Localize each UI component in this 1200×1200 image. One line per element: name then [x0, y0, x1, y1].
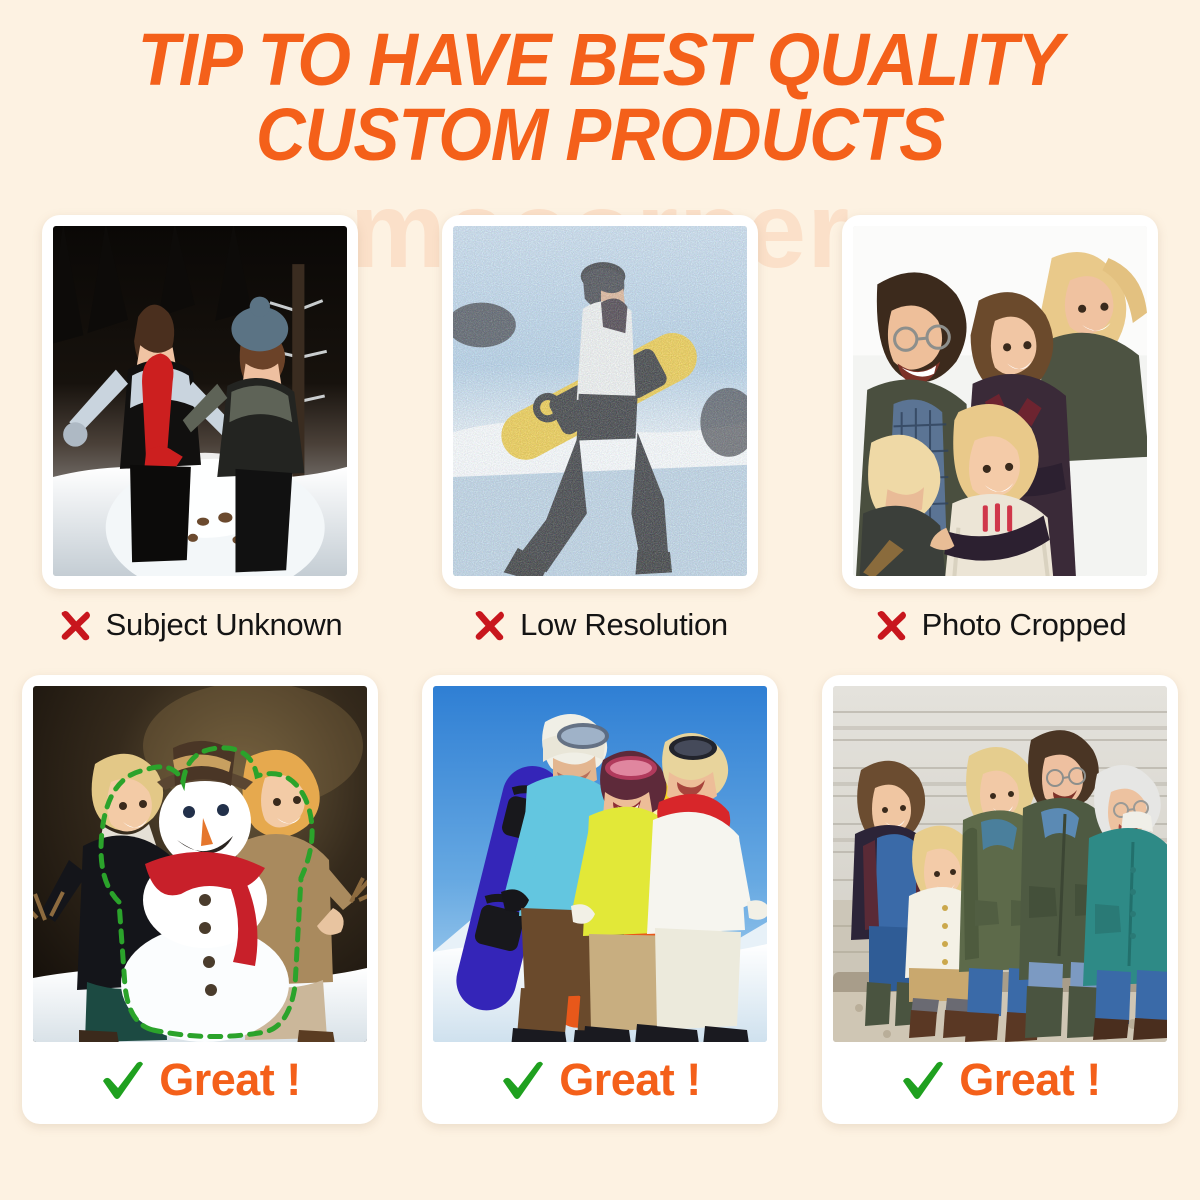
photo-three-snowboarders-on-slope	[433, 686, 767, 1042]
photo-card[interactable]	[42, 215, 358, 589]
red-x-icon	[472, 607, 508, 643]
red-x-icon	[58, 607, 94, 643]
example-cell-low-resolution: Low Resolution	[400, 215, 800, 667]
photo-card[interactable]	[442, 215, 758, 589]
photo-card[interactable]	[842, 215, 1158, 589]
example-cell-photo-cropped: Photo Cropped	[800, 215, 1200, 667]
red-x-icon	[874, 607, 910, 643]
status-label-photo-cropped: Photo Cropped	[874, 607, 1127, 643]
photo-family-portrait-cropped-at-bottom	[853, 226, 1147, 576]
status-label-great-snowman: Great !	[33, 1042, 367, 1118]
example-cell-great-snowboarders: Great !	[400, 675, 800, 1145]
page-title-line-2: CUSTOM PRODUCTS	[42, 97, 1158, 172]
green-check-icon	[899, 1057, 945, 1103]
photo-snowman-with-two-women-green-dashed-outline	[33, 686, 367, 1042]
photo-pixelated-snowboarder-walking	[453, 226, 747, 576]
status-label-subject-unknown: Subject Unknown	[58, 607, 343, 643]
photo-card[interactable]: Great !	[822, 675, 1178, 1124]
status-label-great-snowboarders: Great !	[433, 1042, 767, 1118]
example-cell-great-family: Great !	[800, 675, 1200, 1145]
status-label-text: Great !	[159, 1054, 301, 1106]
photo-card[interactable]: Great !	[22, 675, 378, 1124]
status-label-low-resolution: Low Resolution	[472, 607, 728, 643]
example-cell-great-snowman: Great !	[0, 675, 400, 1145]
status-label-text: Great !	[959, 1054, 1101, 1106]
status-label-great-family: Great !	[833, 1042, 1167, 1118]
photo-card[interactable]: Great !	[422, 675, 778, 1124]
status-label-text: Subject Unknown	[106, 607, 343, 643]
status-label-text: Photo Cropped	[922, 607, 1127, 643]
page-title-line-1: TIP TO HAVE BEST QUALITY	[42, 22, 1158, 97]
page-title: TIP TO HAVE BEST QUALITY CUSTOM PRODUCTS	[0, 22, 1200, 173]
example-cell-subject-unknown: Subject Unknown	[0, 215, 400, 667]
green-check-icon	[99, 1057, 145, 1103]
status-label-text: Low Resolution	[520, 607, 728, 643]
examples-grid: Subject Unknown	[0, 215, 1200, 1175]
status-label-text: Great !	[559, 1054, 701, 1106]
photo-five-person-family-against-wooden-wall	[833, 686, 1167, 1042]
green-check-icon	[499, 1057, 545, 1103]
photo-two-women-building-snowman-in-dark-forest	[53, 226, 347, 576]
